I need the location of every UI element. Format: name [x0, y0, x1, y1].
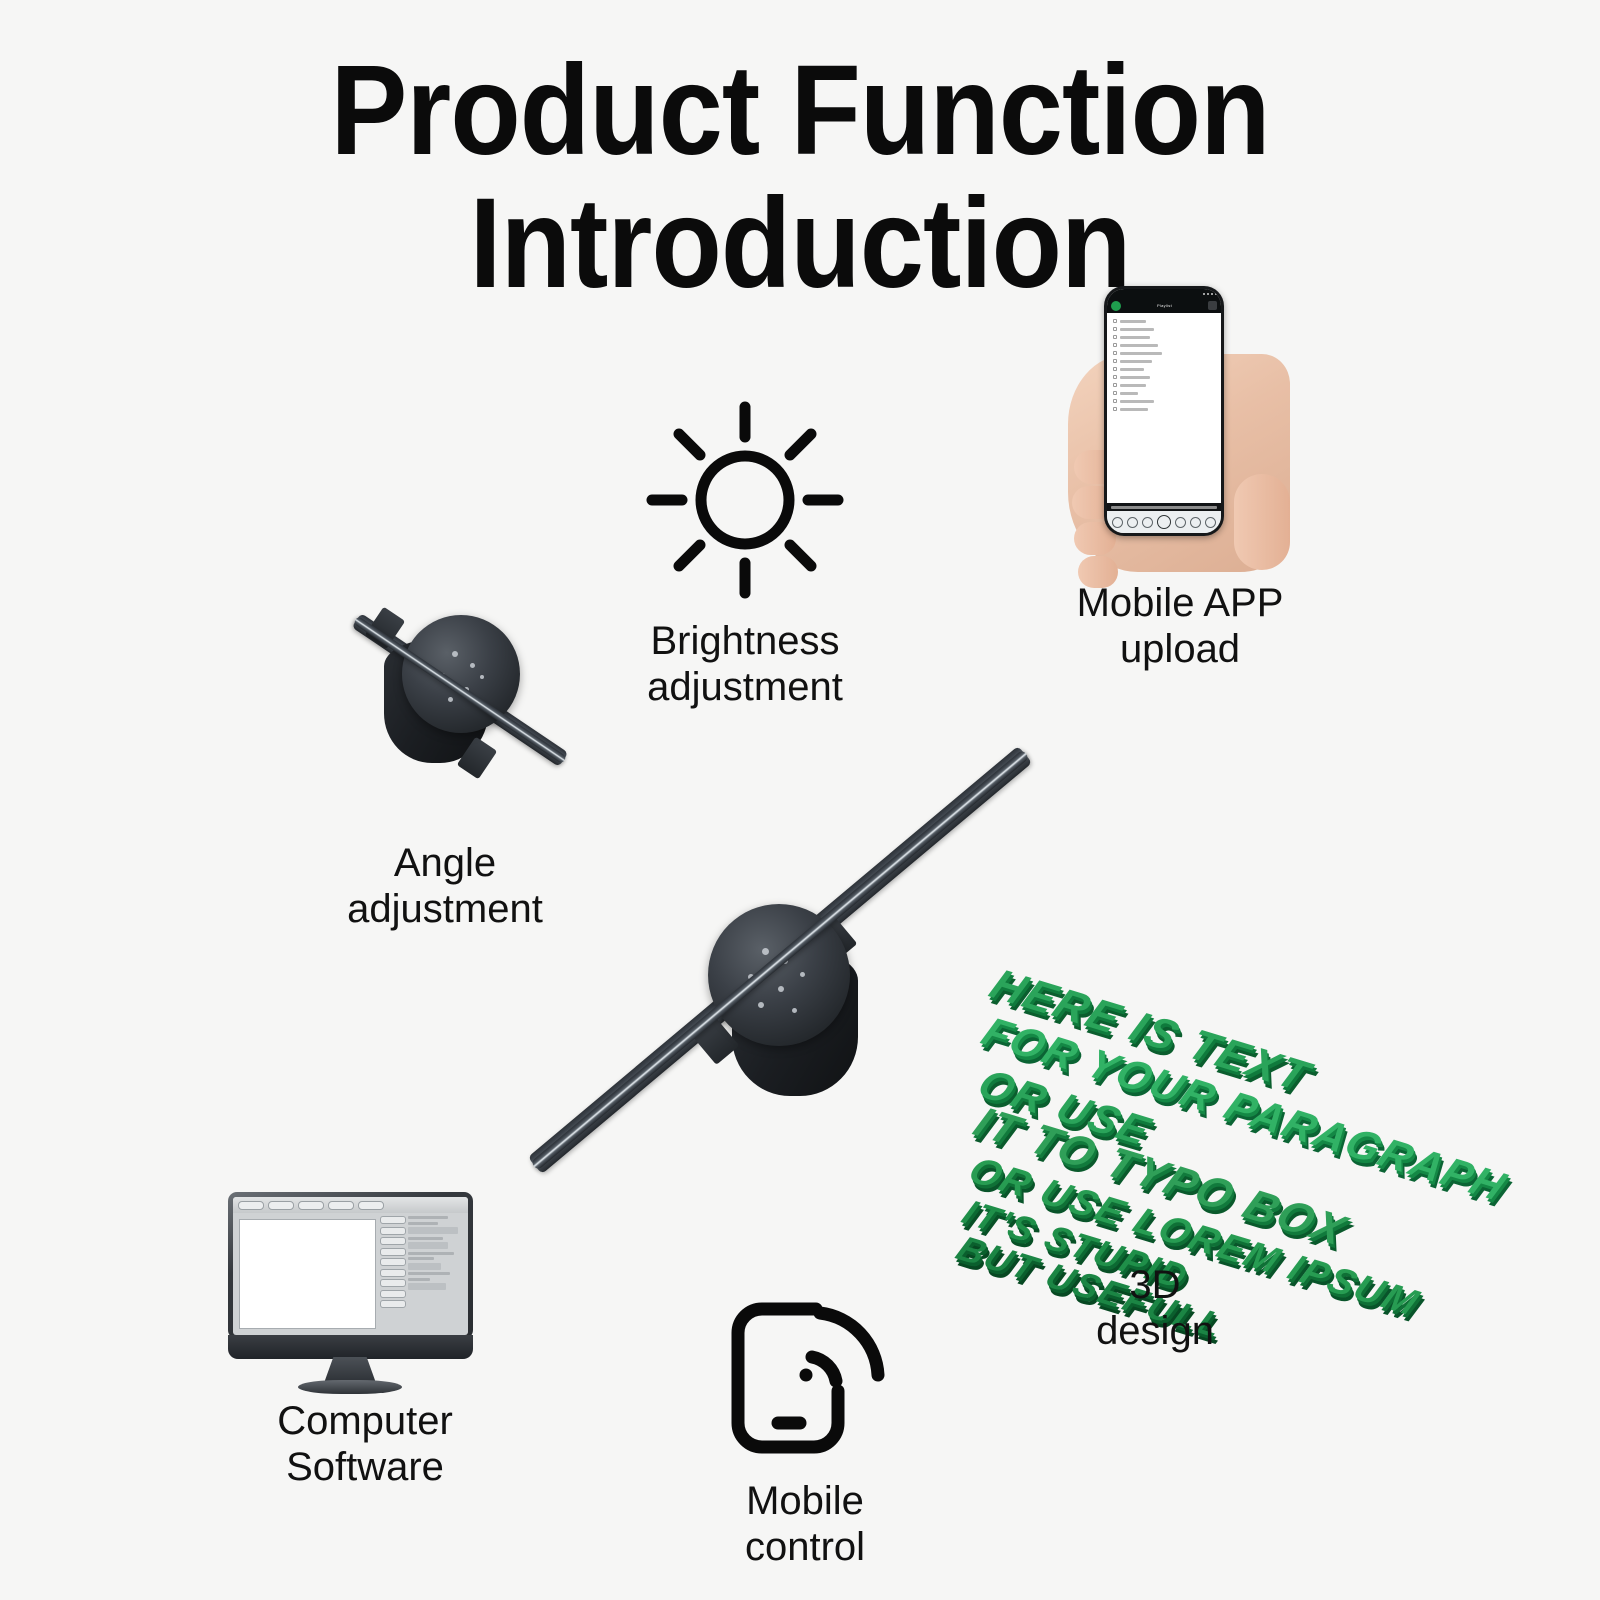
holographic-led-fan-display: [500, 690, 1060, 1230]
green-3d-typography: HERE IS TEXT FOR YOUR PARAGRAPH OR USE I…: [985, 940, 1315, 1270]
checkbox-icon[interactable]: [1113, 327, 1117, 331]
infographic-canvas: Product Function Introduction Brightness…: [0, 0, 1600, 1600]
list-item: [1107, 357, 1221, 365]
checkbox-icon[interactable]: [1113, 335, 1117, 339]
software-toolbar[interactable]: [233, 1197, 468, 1213]
panel-button-column[interactable]: [380, 1216, 406, 1335]
hub-screw: [762, 948, 769, 955]
hub-screw: [792, 1008, 797, 1013]
phone-screen: Playlist: [1107, 289, 1221, 533]
computer-software-label: Computer Software: [205, 1398, 525, 1491]
checkbox-icon[interactable]: [1113, 383, 1117, 387]
panel-button[interactable]: [380, 1216, 406, 1224]
toolbar-button[interactable]: [1205, 517, 1216, 528]
phone-bottom-toolbar[interactable]: [1107, 511, 1221, 533]
checkbox-icon[interactable]: [1113, 343, 1117, 347]
page-title: Product Function Introduction: [0, 48, 1600, 307]
panel-button[interactable]: [380, 1269, 406, 1277]
panel-button[interactable]: [380, 1279, 406, 1287]
checkbox-icon[interactable]: [1113, 359, 1117, 363]
software-body: [233, 1213, 468, 1335]
software-canvas[interactable]: [239, 1219, 376, 1329]
hub-screw: [448, 697, 453, 702]
toolbar-button[interactable]: [1175, 517, 1186, 528]
panel-button[interactable]: [380, 1227, 406, 1235]
toolbar-button[interactable]: [1190, 517, 1201, 528]
checkbox-icon[interactable]: [1113, 319, 1117, 323]
checkbox-icon[interactable]: [1113, 367, 1117, 371]
toolbar-button-primary[interactable]: [1157, 515, 1171, 529]
phone-status-bar: [1107, 289, 1221, 298]
checkbox-icon[interactable]: [1113, 399, 1117, 403]
thumb: [1234, 474, 1290, 570]
monitor-stand-base: [298, 1380, 402, 1394]
list-item: [1107, 381, 1221, 389]
toolbar-button[interactable]: [328, 1201, 354, 1210]
toolbar-button[interactable]: [268, 1201, 294, 1210]
mobile-app-upload-label: Mobile APP upload: [990, 580, 1370, 673]
monitor-bezel: [228, 1192, 473, 1339]
phone-app-title: Playlist: [1121, 303, 1208, 308]
phone-file-list[interactable]: [1107, 313, 1221, 413]
panel-button[interactable]: [380, 1248, 406, 1256]
phone-app-header: Playlist: [1107, 298, 1221, 313]
hub-screw: [800, 972, 805, 977]
checkbox-icon[interactable]: [1113, 351, 1117, 355]
page-title-line-2: Introduction: [80, 181, 1520, 306]
toolbar-button[interactable]: [1127, 517, 1138, 528]
checkbox-icon[interactable]: [1113, 375, 1117, 379]
checkbox-icon[interactable]: [1113, 407, 1117, 411]
toolbar-button[interactable]: [358, 1201, 384, 1210]
desktop-monitor-photo: [228, 1192, 490, 1397]
phone-device: Playlist: [1104, 286, 1224, 536]
toolbar-button[interactable]: [1112, 517, 1123, 528]
panel-settings-column[interactable]: [408, 1216, 465, 1335]
panel-button[interactable]: [380, 1290, 406, 1298]
list-item: [1107, 333, 1221, 341]
hub-screw: [452, 651, 458, 657]
checkbox-icon[interactable]: [1113, 391, 1117, 395]
list-item: [1107, 325, 1221, 333]
list-item: [1107, 317, 1221, 325]
phone-wifi-icon: [718, 1295, 888, 1470]
list-item: [1107, 365, 1221, 373]
hand-holding-phone-photo: Playlist: [1060, 282, 1300, 572]
toolbar-button[interactable]: [238, 1201, 264, 1210]
software-side-panel[interactable]: [380, 1213, 468, 1335]
list-item: [1107, 397, 1221, 405]
3d-design-label: 3D design: [1005, 1262, 1305, 1355]
list-item: [1107, 389, 1221, 397]
monitor-screen: [233, 1197, 468, 1335]
toolbar-button[interactable]: [298, 1201, 324, 1210]
phone-info-bar: [1107, 503, 1221, 511]
hub-screw: [778, 986, 784, 992]
hub-screw: [470, 663, 475, 668]
list-item: [1107, 405, 1221, 413]
list-item: [1107, 373, 1221, 381]
panel-button[interactable]: [380, 1237, 406, 1245]
sun-icon: [640, 395, 850, 605]
fan-blade-main-front: [531, 749, 1030, 1170]
hub-screw: [758, 1002, 764, 1008]
list-item: [1107, 349, 1221, 357]
app-logo-icon: [1111, 301, 1121, 311]
hamburger-menu-icon[interactable]: [1208, 301, 1217, 310]
hub-screw: [480, 675, 484, 679]
monitor-chin: [228, 1335, 473, 1359]
toolbar-button[interactable]: [1142, 517, 1153, 528]
page-title-line-1: Product Function: [80, 48, 1520, 173]
list-item: [1107, 341, 1221, 349]
panel-button[interactable]: [380, 1300, 406, 1308]
panel-button[interactable]: [380, 1258, 406, 1266]
mobile-control-label: Mobile control: [680, 1478, 930, 1571]
